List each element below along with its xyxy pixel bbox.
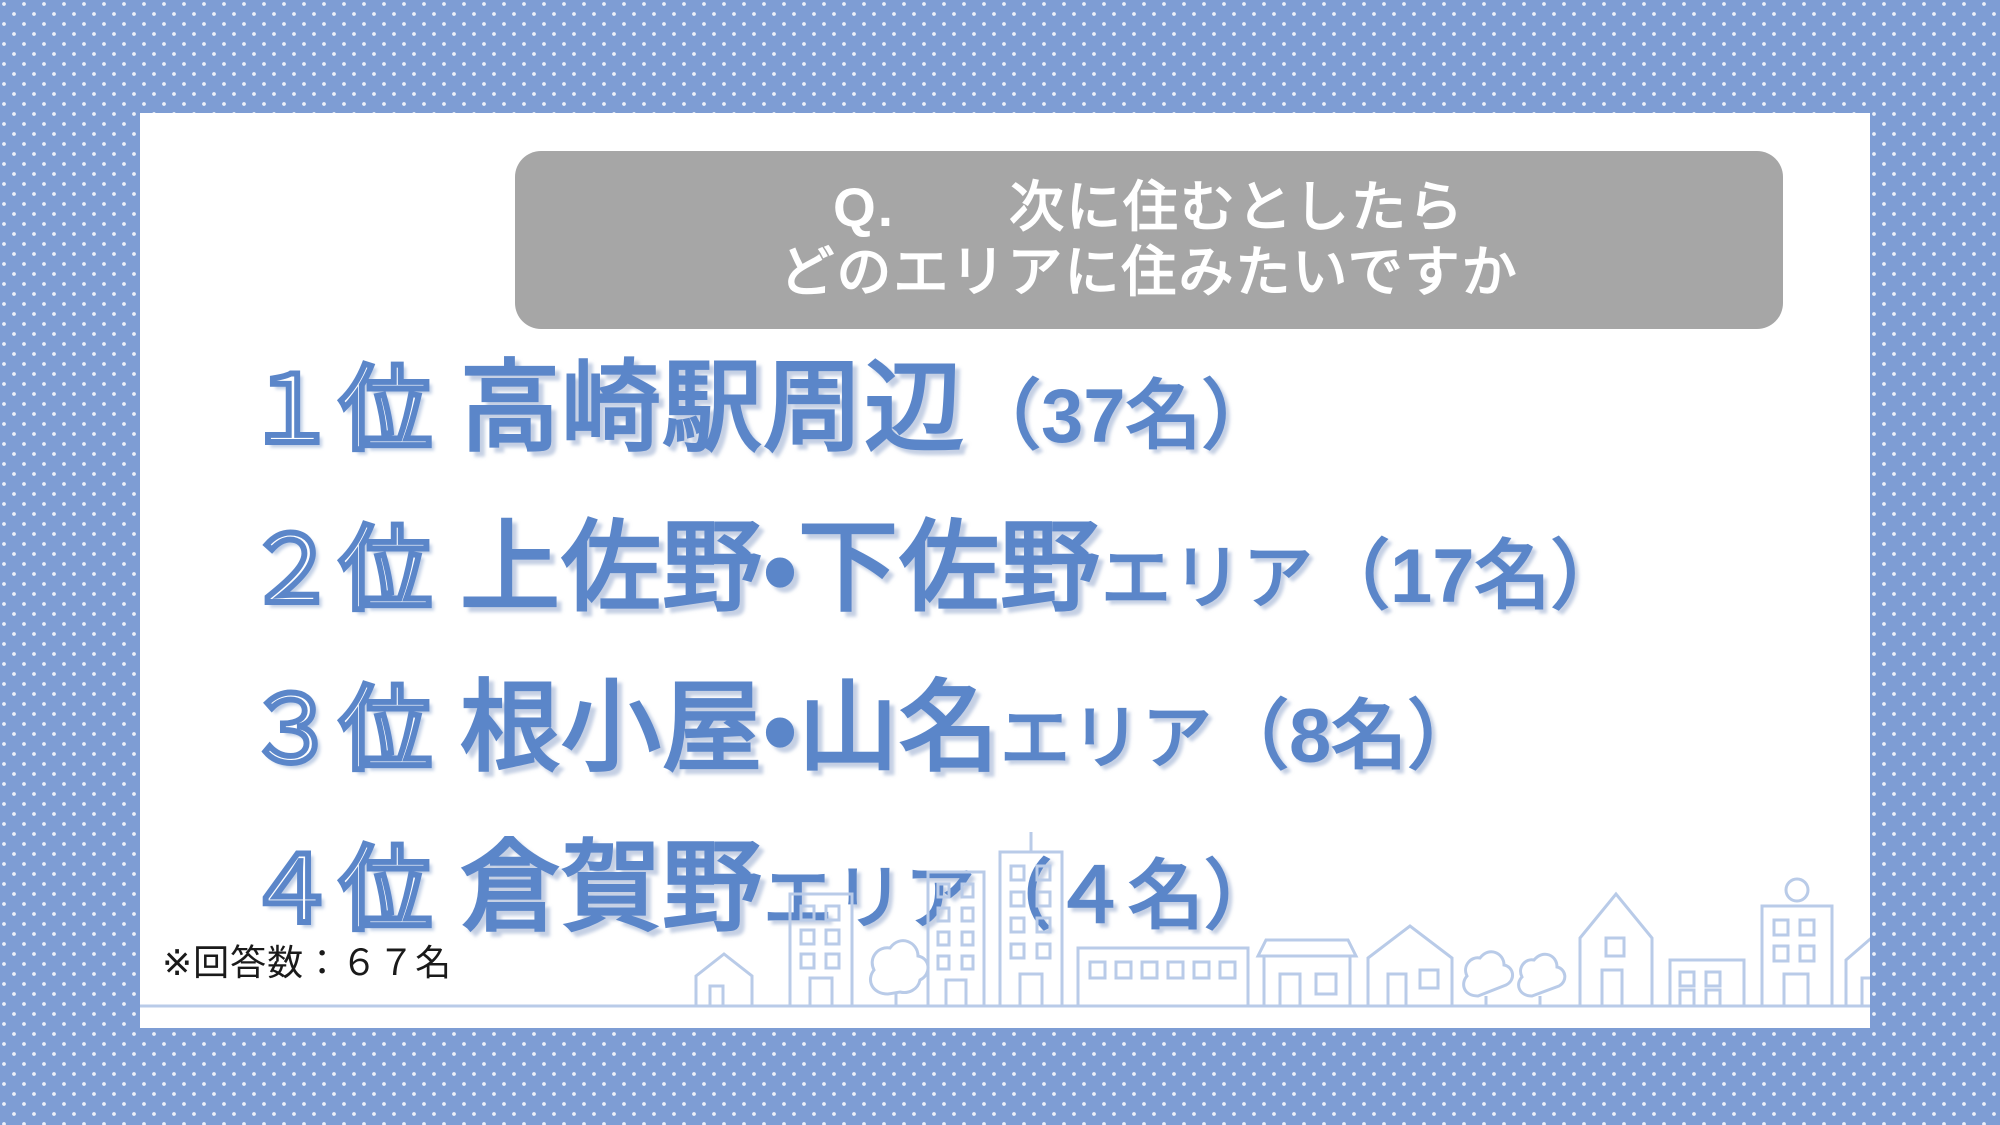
city-skyline-illustration xyxy=(140,798,1870,1028)
ranking-row-1: １位 高崎駅周辺（37名） xyxy=(140,358,1870,518)
area-suffix-2: エリア xyxy=(1101,539,1314,617)
area-name-2: 上佐野・下佐野 xyxy=(460,512,1101,624)
ranking-entry-1: 高崎駅周辺（37名） xyxy=(460,358,1278,458)
ranking-entry-2: 上佐野・下佐野エリア（17名） xyxy=(460,518,1627,618)
rank-number-2: ２位 xyxy=(245,524,460,617)
area-suffix-3: エリア xyxy=(1000,699,1213,777)
question-line-1: Q. 次に住むとしたら xyxy=(833,175,1465,240)
rank-number-1: １位 xyxy=(245,364,460,457)
ranking-row-2: ２位 上佐野・下佐野エリア（17名） xyxy=(140,518,1870,678)
question-banner: Q. 次に住むとしたら どのエリアに住みたいですか xyxy=(515,151,1783,329)
area-name-1: 高崎駅周辺 xyxy=(460,352,965,464)
slide-root: Q. 次に住むとしたら どのエリアに住みたいですか １位 高崎駅周辺（37名） … xyxy=(0,0,2000,1125)
ranking-entry-3: 根小屋・山名エリア（8名） xyxy=(460,678,1483,778)
content-card: Q. 次に住むとしたら どのエリアに住みたいですか １位 高崎駅周辺（37名） … xyxy=(140,113,1870,1028)
area-count-2: （17名） xyxy=(1314,534,1627,619)
area-count-3: （8名） xyxy=(1213,694,1483,779)
area-name-3: 根小屋・山名 xyxy=(460,672,1000,784)
question-line-2: どのエリアに住みたいですか xyxy=(779,240,1518,305)
area-count-1: （37名） xyxy=(965,374,1278,459)
footer-note: ※回答数：６７名 xyxy=(162,934,452,986)
rank-number-3: ３位 xyxy=(245,684,460,777)
